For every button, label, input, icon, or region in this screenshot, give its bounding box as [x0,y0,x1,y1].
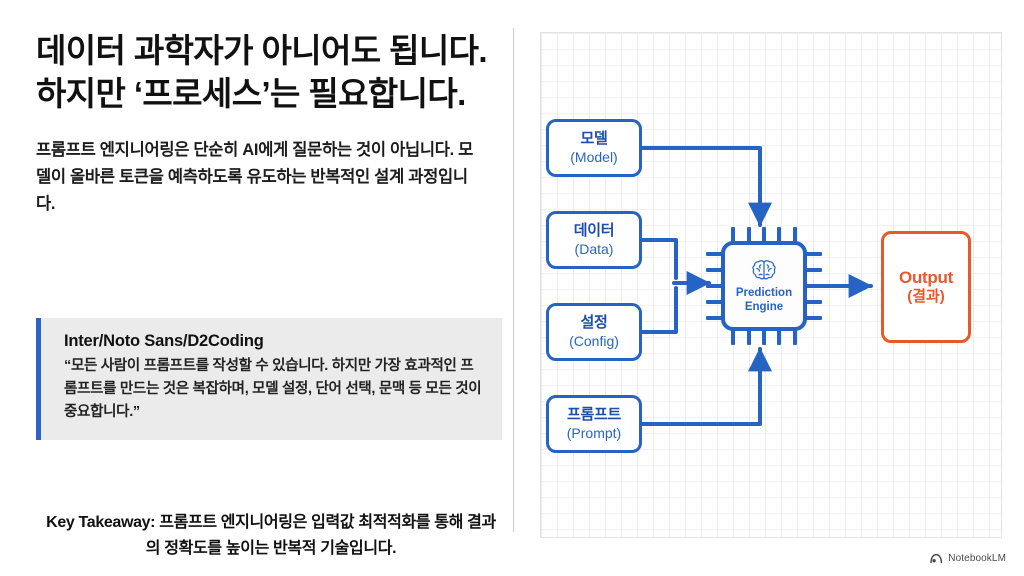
chip-pin-left [706,316,722,320]
chip-pin-right [806,284,822,288]
chip-pin-right [806,300,822,304]
chip-pin-bottom [747,329,751,345]
chip-pin-bottom [777,329,781,345]
diagram-node-prompt[interactable]: 프롬프트 (Prompt) [546,395,642,453]
pipeline-diagram: 모델 (Model) 데이터 (Data) 설정 (Config) 프롬프트 (… [541,33,1002,538]
left-content-column: 데이터 과학자가 아니어도 됩니다. 하지만 ‘프로세스’는 필요합니다. 프롬… [36,30,498,546]
chip-pin-bottom [793,329,797,345]
diagram-node-data[interactable]: 데이터 (Data) [546,211,642,269]
lede-paragraph: 프롬프트 엔지니어링은 단순히 AI에게 질문하는 것이 아닙니다. 모델이 올… [36,137,486,217]
chip-pin-left [706,252,722,256]
chip-pin-right [806,268,822,272]
engine-label: Prediction Engine [736,287,792,315]
engine-label-line2: Engine [745,301,783,313]
quote-accent-bar [36,318,41,440]
chip-pin-bottom [731,329,735,345]
engine-label-line1: Prediction [736,287,792,299]
output-label-en: Output [899,268,953,287]
diagram-node-model[interactable]: 모델 (Model) [546,119,642,177]
slide-root: 데이터 과학자가 아니어도 됩니다. 하지만 ‘프로세스’는 필요합니다. 프롬… [0,0,1024,576]
chip-pin-bottom [762,329,766,345]
key-takeaway: Key Takeaway: 프롬프트 엔지니어링은 입력값 최적적화를 통해 결… [40,510,502,561]
node-label-ko: 프롬프트 [567,407,621,424]
node-label-en: (Config) [569,334,619,350]
watermark: NotebookLM [930,553,1006,564]
column-divider [513,28,514,532]
quote-callout: Inter/Noto Sans/D2Coding “모든 사람이 프롬프트를 작… [36,318,502,440]
quote-body: “모든 사람이 프롬프트를 작성할 수 있습니다. 하지만 가장 효과적인 프롬… [64,355,486,424]
quote-content: Inter/Noto Sans/D2Coding “모든 사람이 프롬프트를 작… [54,332,486,424]
diagram-node-config[interactable]: 설정 (Config) [546,303,642,361]
node-label-ko: 설정 [580,315,607,332]
node-label-en: (Model) [570,150,617,166]
watermark-label: NotebookLM [948,553,1006,564]
node-label-en: (Data) [575,242,614,258]
quote-title: Inter/Noto Sans/D2Coding [64,332,486,351]
chip-pin-right [806,252,822,256]
output-label-ko: (결과) [907,289,945,306]
page-title: 데이터 과학자가 아니어도 됩니다. 하지만 ‘프로세스’는 필요합니다. [36,30,496,115]
diagram-node-prediction-engine[interactable]: Prediction Engine [721,241,807,331]
chip-pin-left [706,268,722,272]
chip-pin-left [706,284,722,288]
node-label-ko: 데이터 [574,223,615,240]
notebooklm-logo-icon [930,553,943,564]
chip-pin-left [706,300,722,304]
chip-pin-right [806,316,822,320]
node-label-en: (Prompt) [567,426,621,442]
diagram-node-output[interactable]: Output (결과) [881,231,971,343]
diagram-panel: 모델 (Model) 데이터 (Data) 설정 (Config) 프롬프트 (… [540,32,1002,538]
brain-icon [749,258,779,284]
node-label-ko: 모델 [580,131,607,148]
